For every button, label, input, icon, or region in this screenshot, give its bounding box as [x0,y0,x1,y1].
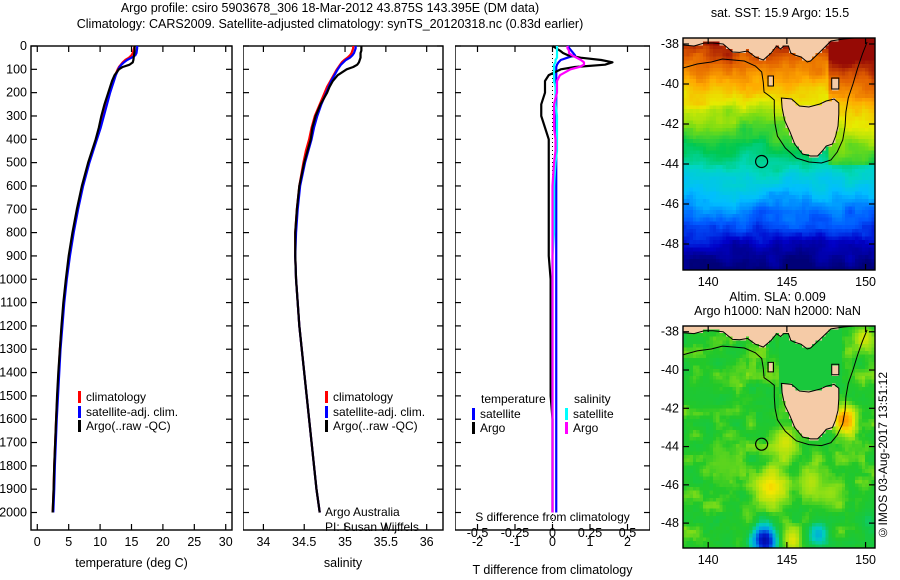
temperature-axis-title: temperature (deg C) [31,556,232,570]
map-field [683,326,876,549]
legend-swatch [565,422,568,434]
difference-legend-salinity: salinitysatelliteArgo [565,392,614,436]
legend-item: satellite-adj. clim. [325,405,425,420]
salinity-profile-plot: 3434.53535.536 [243,0,448,580]
legend-swatch [78,406,81,418]
legend-swatch [78,420,81,432]
t-difference-axis-title: T difference from climatology [450,563,655,577]
panel-difference: -2-1012 [455,0,650,580]
panel-temperature: 0100200300400500600700800900100011001200… [0,0,240,580]
legend-item: climatology [78,390,178,405]
temperature-profile-plot: 0100200300400500600700800900100011001200… [0,0,240,580]
s-difference-ticklabels: -0.5-0.2500.250.5 [455,526,650,542]
legend-item: satellite [565,407,614,422]
sla-map-canvas: -38-40-42-44-46-48140145150 [655,318,900,580]
legend-label: Argo [573,421,598,436]
legend-item: Argo [472,421,546,436]
legend-item: satellite-adj. clim. [78,405,178,420]
s-tick-label: -0.5 [467,526,489,540]
map-field [683,38,876,271]
credit-line-1: Argo Australia [325,505,419,520]
legend-label: satellite [480,407,521,422]
legend-heading: temperature [472,392,546,407]
legend-label: climatology [333,390,393,405]
s-tick-label: -0.25 [501,526,530,540]
legend-item: Argo(..raw -QC) [325,419,425,434]
s-tick-label: 0.25 [578,526,602,540]
legend-swatch [472,422,475,434]
difference-profile-plot: -2-1012 [455,0,650,580]
s-tick-label: 0.5 [619,526,636,540]
salinity-axis-title: salinity [243,556,443,570]
sst-map-canvas: -38-40-42-44-46-48140145150 [655,22,900,297]
legend-swatch [325,406,328,418]
map-sla: -38-40-42-44-46-48140145150 [655,318,900,580]
legend-swatch [325,391,328,403]
sla-title-line-2: Argo h1000: NaN h2000: NaN [655,304,900,318]
legend-label: satellite-adj. clim. [333,405,425,420]
credit-line-2: PI: Susan Wijffels [325,520,419,535]
legend-label: Argo(..raw -QC) [333,419,418,434]
legend-swatch [325,420,328,432]
legend-swatch [472,408,475,420]
legend-label: climatology [86,390,146,405]
legend-item: climatology [325,390,425,405]
legend-swatch [78,391,81,403]
legend-label: Argo(..raw -QC) [86,419,171,434]
difference-legend-temperature: temperaturesatelliteArgo [472,392,546,436]
map-sst: -38-40-42-44-46-48140145150 [655,22,900,297]
legend-label: Argo [480,421,505,436]
argo-australia-credit: Argo Australia PI: Susan Wijffels [325,505,419,534]
legend-label: satellite-adj. clim. [86,405,178,420]
temperature-legend: climatologysatellite-adj. clim.Argo(..ra… [78,390,178,434]
sla-map-title: Altim. SLA: 0.009 Argo h1000: NaN h2000:… [655,290,900,318]
legend-item: Argo [565,421,614,436]
legend-item: satellite [472,407,546,422]
s-tick-label: 0 [549,526,556,540]
plot-frame [243,46,443,530]
salinity-legend: climatologysatellite-adj. clim.Argo(..ra… [325,390,425,434]
sst-map-title: sat. SST: 15.9 Argo: 15.5 [660,6,900,20]
s-difference-axis-title: S difference from climatology [455,510,650,525]
legend-heading: salinity [565,392,614,407]
legend-label: satellite [573,407,614,422]
panel-salinity: 3434.53535.536 [243,0,448,580]
legend-item: Argo(..raw -QC) [78,419,178,434]
legend-swatch [565,408,568,420]
plot-frame [31,46,232,530]
sla-title-line-1: Altim. SLA: 0.009 [655,290,900,304]
